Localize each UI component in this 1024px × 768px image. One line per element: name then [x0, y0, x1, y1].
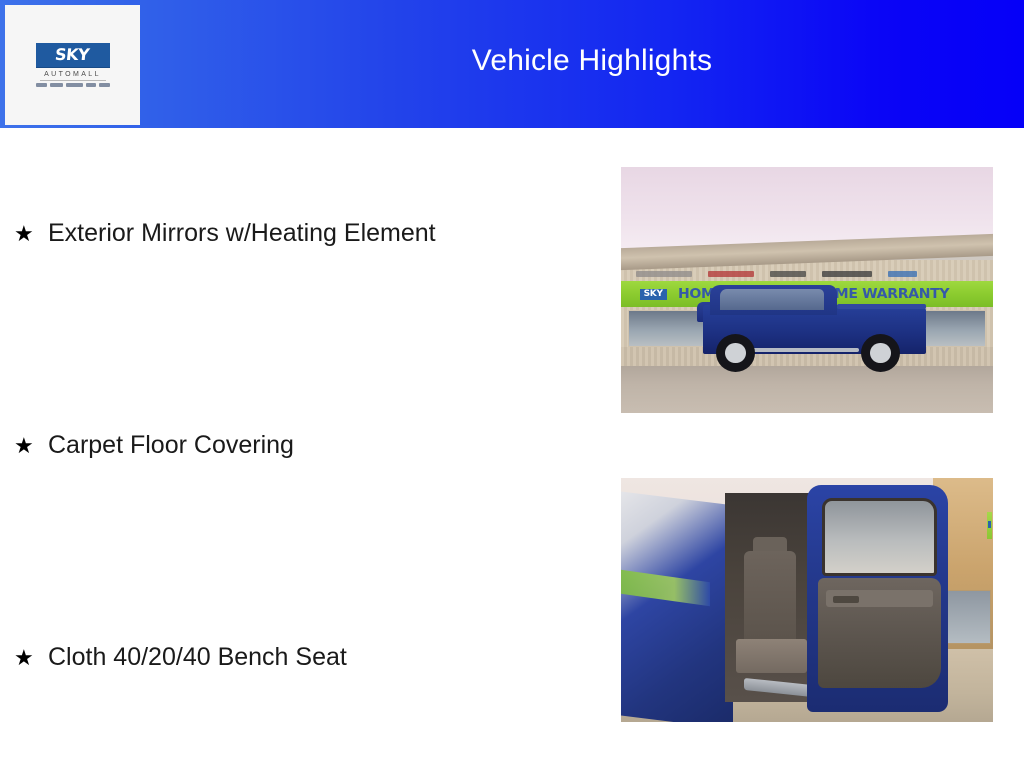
logo-brand-marks: [36, 83, 110, 87]
truck-bed: [837, 304, 926, 310]
page-title: Vehicle Highlights: [160, 0, 1024, 128]
logo-inner: SKY AUTOMALL: [23, 43, 123, 87]
logo-subtitle: AUTOMALL: [44, 71, 101, 78]
logo-brand-name: SKY: [55, 47, 91, 63]
truck-front-wheel: [716, 334, 755, 372]
bench-seat-back: [744, 551, 796, 644]
star-bullet-icon: ★: [14, 435, 48, 457]
door-handle: [833, 596, 859, 603]
bench-seat-cushion: [736, 639, 807, 673]
jeep-mark-icon: [66, 83, 83, 87]
showroom-window: [943, 590, 991, 644]
truck-bed-side: [621, 490, 733, 722]
sky-logo-plate: SKY: [36, 43, 110, 67]
list-item: ★ Exterior Mirrors w/Heating Element: [14, 220, 436, 248]
ram-sign-icon: [822, 271, 871, 277]
dealer-logo[interactable]: SKY AUTOMALL: [5, 5, 140, 125]
dodge-mark-icon: [50, 83, 63, 87]
sky-sign-icon: [888, 271, 917, 277]
vehicle-exterior-photo: SKY HOME OF THE LIFETIME WARRANTY: [621, 167, 993, 413]
banner-sky-badge: SKY: [640, 289, 667, 300]
star-bullet-icon: ★: [14, 223, 48, 245]
list-item-label: Carpet Floor Covering: [48, 432, 294, 460]
highlights-list: ★ Exterior Mirrors w/Heating Element ★ C…: [0, 128, 600, 768]
slide-header: Vehicle Highlights: [0, 0, 1024, 128]
list-item-label: Cloth 40/20/40 Bench Seat: [48, 644, 347, 672]
star-bullet-icon: ★: [14, 647, 48, 669]
door-window: [822, 498, 937, 576]
chrysler-sign-icon: [636, 271, 692, 277]
sky-sign-icon: [987, 512, 992, 539]
list-item-label: Exterior Mirrors w/Heating Element: [48, 220, 436, 248]
truck-windows: [720, 289, 824, 310]
dodge-sign-icon: [708, 271, 754, 277]
ram-mark-icon: [86, 83, 96, 87]
vehicle-interior-photo: [621, 478, 993, 722]
parking-lot-ground: [621, 366, 993, 413]
building-brand-logos: [636, 268, 963, 280]
list-item: ★ Cloth 40/20/40 Bench Seat: [14, 644, 347, 672]
chrysler-mark-icon: [36, 83, 47, 87]
sky-mark-icon: [99, 83, 110, 87]
logo-divider: [40, 80, 106, 81]
jeep-sign-icon: [770, 271, 806, 277]
list-item: ★ Carpet Floor Covering: [14, 432, 294, 460]
